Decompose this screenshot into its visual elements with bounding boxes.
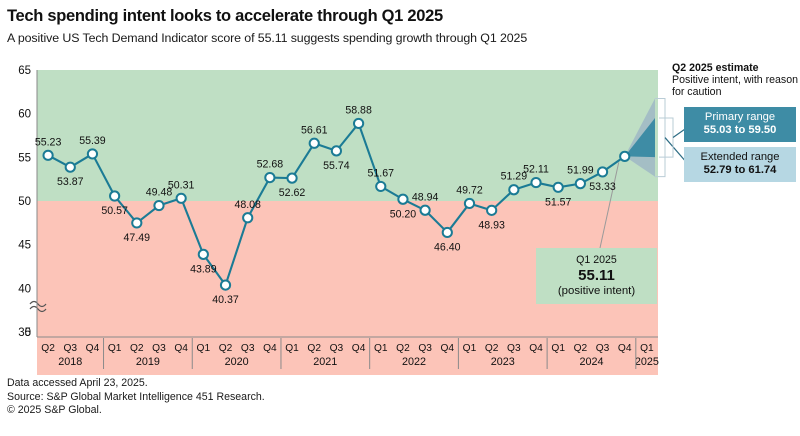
y-axis-tick: 35 — [18, 327, 31, 339]
data-point-label: 55.74 — [323, 160, 350, 172]
chart-title: Tech spending intent looks to accelerate… — [7, 7, 443, 26]
y-axis-tick: 65 — [18, 65, 31, 77]
data-point-label: 50.20 — [390, 208, 417, 220]
chart-plot-area: 035404550556065Q2Q3Q4Q1Q2Q3Q4Q1Q2Q3Q4Q1Q… — [0, 55, 800, 375]
primary-range-value: 55.03 to 59.50 — [689, 124, 791, 137]
x-axis-quarter-label: Q3 — [596, 343, 610, 354]
callout-period: Q1 2025 — [576, 254, 617, 267]
x-axis-quarter-label: Q2 — [219, 343, 233, 354]
primary-range-badge: Primary range 55.03 to 59.50 — [684, 107, 796, 142]
range-bracket — [659, 118, 673, 157]
x-axis-quarter-label: Q2 — [41, 343, 55, 354]
x-axis-quarter-label: Q2 — [485, 343, 499, 354]
x-axis-quarter-label: Q1 — [463, 343, 477, 354]
x-axis-quarter-label: Q1 — [108, 343, 122, 354]
data-point-label: 52.62 — [279, 187, 306, 199]
data-point[interactable] — [509, 185, 518, 194]
x-axis-quarter-label: Q4 — [174, 343, 188, 354]
y-axis-tick: 55 — [18, 152, 31, 164]
x-axis-quarter-label: Q2 — [396, 343, 410, 354]
x-axis-year-label: 2020 — [225, 356, 249, 368]
data-point[interactable] — [465, 199, 474, 208]
x-axis-quarter-label: Q3 — [152, 343, 166, 354]
x-axis-quarter-label: Q3 — [63, 343, 77, 354]
y-axis-tick: 45 — [18, 240, 31, 252]
data-point-label: 52.68 — [257, 159, 284, 171]
data-point-label: 40.37 — [212, 294, 239, 306]
data-point[interactable] — [132, 218, 141, 227]
data-point[interactable] — [554, 183, 563, 192]
data-point-label: 53.87 — [57, 176, 84, 188]
footer-line-1: Data accessed April 23, 2025. — [7, 377, 265, 391]
x-axis-quarter-label: Q4 — [529, 343, 543, 354]
x-axis-quarter-label: Q1 — [640, 343, 654, 354]
extended-range-value: 52.79 to 61.74 — [689, 164, 791, 177]
x-axis-year-label: 2025 — [635, 356, 659, 368]
data-point[interactable] — [243, 213, 252, 222]
x-axis-year-label: 2023 — [491, 356, 515, 368]
data-point[interactable] — [310, 139, 319, 148]
data-point-label: 48.94 — [412, 191, 439, 203]
data-point[interactable] — [177, 194, 186, 203]
y-axis-tick: 60 — [18, 109, 31, 121]
x-axis-quarter-label: Q4 — [263, 343, 277, 354]
x-axis-quarter-label: Q3 — [507, 343, 521, 354]
data-point-label: 51.99 — [567, 165, 594, 177]
forecast-subheading: Positive intent, with reason for caution — [672, 74, 798, 98]
data-point[interactable] — [443, 228, 452, 237]
data-point-label: 53.33 — [589, 181, 616, 193]
data-point-label: 48.08 — [234, 199, 261, 211]
callout-value: 55.11 — [578, 267, 615, 284]
x-axis-quarter-label: Q4 — [618, 343, 632, 354]
x-axis-quarter-label: Q4 — [441, 343, 455, 354]
x-axis-year-label: 2018 — [58, 356, 82, 368]
x-axis-quarter-label: Q2 — [130, 343, 144, 354]
data-point-label: 52.11 — [523, 164, 549, 176]
x-axis-year-label: 2019 — [136, 356, 160, 368]
footer-line-3: © 2025 S&P Global. — [7, 404, 265, 418]
data-point[interactable] — [332, 146, 341, 155]
data-point[interactable] — [110, 191, 119, 200]
data-point-label: 50.31 — [168, 179, 195, 191]
x-axis-quarter-label: Q3 — [330, 343, 344, 354]
data-point[interactable] — [354, 119, 363, 128]
data-point[interactable] — [88, 149, 97, 158]
data-point[interactable] — [421, 206, 430, 215]
data-point-label: 46.40 — [434, 241, 461, 253]
data-point[interactable] — [221, 281, 230, 290]
data-point-label: 43.89 — [190, 263, 217, 275]
data-point[interactable] — [398, 195, 407, 204]
data-point[interactable] — [576, 179, 585, 188]
x-axis-quarter-label: Q1 — [374, 343, 388, 354]
data-point[interactable] — [376, 182, 385, 191]
data-point[interactable] — [66, 163, 75, 172]
x-axis-quarter-label: Q4 — [86, 343, 100, 354]
x-axis-quarter-label: Q2 — [307, 343, 321, 354]
data-point[interactable] — [487, 206, 496, 215]
x-axis-quarter-label: Q1 — [197, 343, 211, 354]
data-point-label: 55.39 — [79, 135, 106, 147]
data-point-label: 51.67 — [368, 167, 395, 179]
data-point-label: 55.23 — [35, 136, 62, 148]
data-point[interactable] — [620, 152, 629, 161]
x-axis-year-label: 2022 — [402, 356, 426, 368]
x-axis-quarter-label: Q2 — [574, 343, 588, 354]
x-axis-quarter-label: Q1 — [285, 343, 299, 354]
primary-range-label: Primary range — [689, 111, 791, 124]
y-axis-tick: 50 — [18, 196, 31, 208]
x-axis-quarter-label: Q3 — [241, 343, 255, 354]
x-axis-quarter-label: Q1 — [551, 343, 565, 354]
x-axis-quarter-label: Q3 — [418, 343, 432, 354]
data-point[interactable] — [531, 178, 540, 187]
data-point[interactable] — [43, 151, 52, 160]
data-point[interactable] — [598, 167, 607, 176]
footer-line-2: Source: S&P Global Market Intelligence 4… — [7, 391, 265, 405]
data-point-label: 50.57 — [101, 205, 128, 217]
data-point[interactable] — [287, 174, 296, 183]
q1-2025-callout: Q1 2025 55.11 (positive intent) — [536, 248, 657, 304]
footer-notes: Data accessed April 23, 2025. Source: S&… — [7, 377, 265, 418]
extended-range-label: Extended range — [689, 151, 791, 164]
data-point-label: 48.93 — [478, 219, 505, 231]
data-point-label: 56.61 — [301, 124, 328, 136]
x-axis-quarter-label: Q4 — [352, 343, 366, 354]
y-axis-tick: 40 — [18, 283, 31, 295]
chart-subtitle: A positive US Tech Demand Indicator scor… — [7, 31, 527, 45]
forecast-heading: Q2 2025 estimate — [672, 62, 759, 74]
data-point[interactable] — [265, 173, 274, 182]
data-point-label: 51.57 — [545, 196, 572, 208]
x-axis-year-label: 2024 — [579, 356, 603, 368]
data-point-label: 47.49 — [124, 232, 151, 244]
data-point-label: 58.88 — [345, 104, 372, 116]
callout-note: (positive intent) — [558, 284, 635, 298]
data-point[interactable] — [199, 250, 208, 259]
line-chart-svg: 035404550556065Q2Q3Q4Q1Q2Q3Q4Q1Q2Q3Q4Q1Q… — [0, 55, 800, 375]
x-axis-year-label: 2021 — [313, 356, 337, 368]
data-point-label: 49.72 — [456, 184, 483, 196]
data-point[interactable] — [154, 201, 163, 210]
extended-range-badge: Extended range 52.79 to 61.74 — [684, 147, 796, 182]
